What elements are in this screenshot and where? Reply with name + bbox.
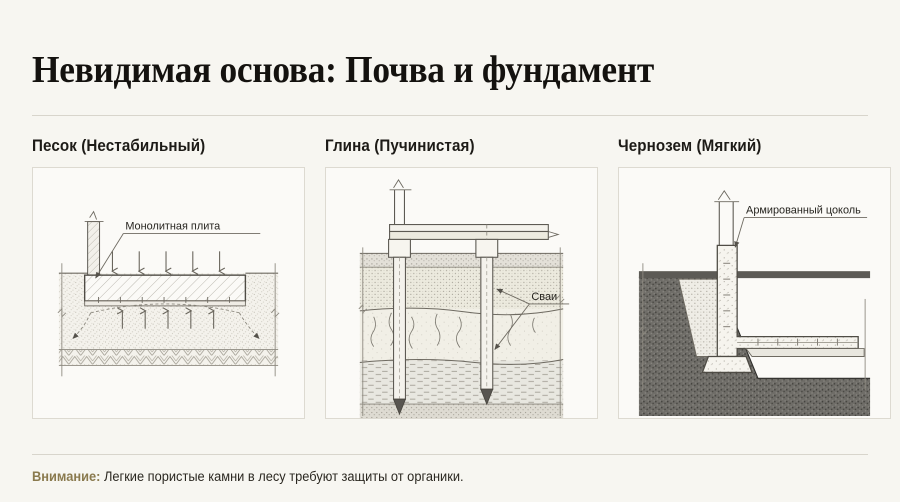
load-arrows-down (112, 251, 219, 271)
annotation-text-plinth: Армированный цоколь (746, 205, 861, 217)
column-above-beam (390, 180, 412, 225)
clay-strata (360, 253, 563, 418)
wall-column (85, 212, 104, 275)
diagram-sand-slab: Монолитная плита (32, 167, 305, 419)
annotation-text-piles: Сваи (531, 291, 557, 303)
column-above-plinth (714, 191, 739, 246)
monolithic-slab (85, 275, 246, 306)
footer: Внимание: Легкие пористые камни в лесу т… (32, 454, 868, 484)
title-divider (32, 115, 868, 116)
annotation-monolithic-slab: Монолитная плита (96, 220, 261, 278)
footer-note: Внимание: Легкие пористые камни в лесу т… (32, 469, 826, 484)
reinforced-plinth (702, 245, 864, 372)
infographic-page: Невидимая основа: Почва и фундамент Песо… (0, 0, 900, 502)
annotation-text-slab: Монолитная плита (125, 220, 221, 232)
panel-title-chernozem: Чернозем (Мягкий) (618, 137, 869, 156)
panel-sand: Песок (Нестабильный) (32, 137, 305, 419)
diagram-chernozem-plinth: Армированный цоколь (618, 167, 891, 419)
grillage-beam (390, 224, 559, 239)
footer-warning-text: Легкие пористые камни в лесу требуют защ… (104, 469, 464, 484)
footer-divider (32, 454, 868, 455)
panel-chernozem: Чернозем (Мягкий) (618, 137, 891, 419)
footer-warning-label: Внимание: (32, 469, 100, 484)
panel-title-clay: Глина (Пучинистая) (325, 137, 576, 156)
panel-title-sand: Песок (Нестабильный) (32, 137, 283, 156)
annotation-plinth: Армированный цоколь (735, 205, 867, 248)
panel-row: Песок (Нестабильный) (32, 137, 868, 419)
page-title: Невидимая основа: Почва и фундамент (32, 25, 809, 89)
diagram-clay-piles: Сваи (325, 167, 598, 419)
panel-clay: Глина (Пучинистая) (325, 137, 598, 419)
